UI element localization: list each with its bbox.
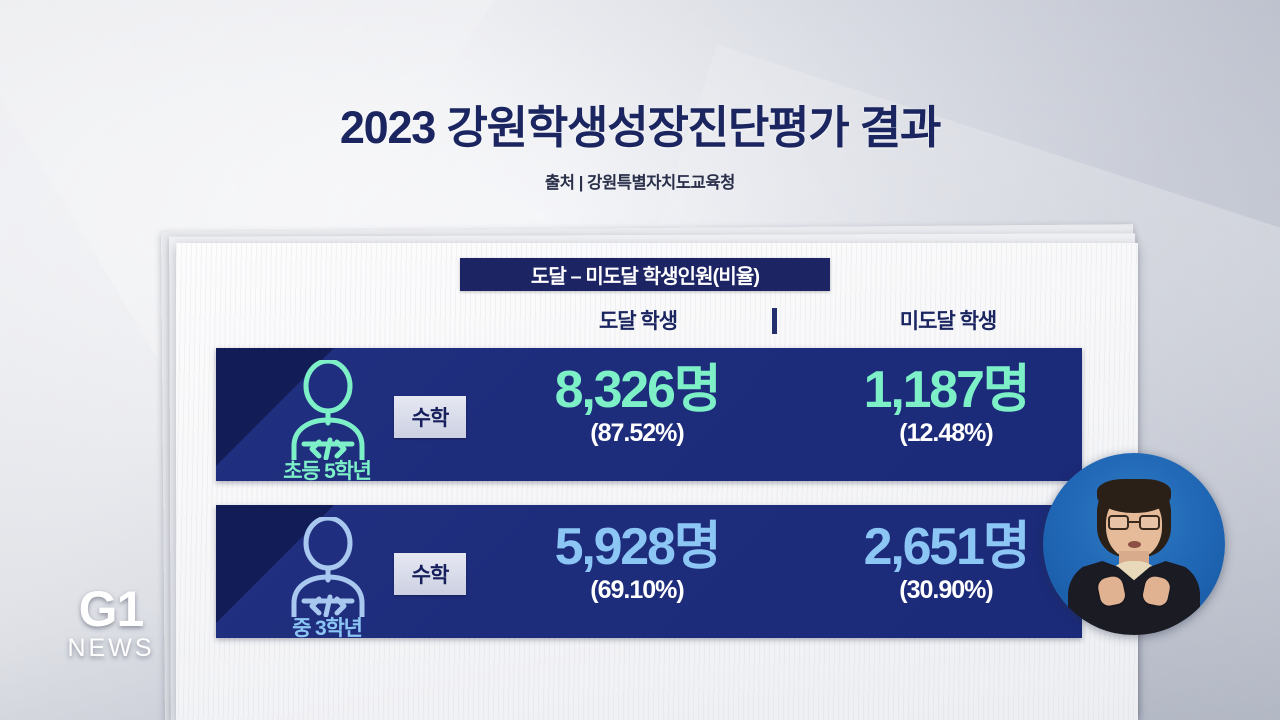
card-banner-label: 도달 – 미도달 학생인원(비율) bbox=[531, 260, 759, 289]
reached-count: 8,326명 bbox=[492, 364, 782, 417]
column-header-reached: 도달 학생 bbox=[548, 305, 728, 335]
student-person-code-icon: 초등 5학년 bbox=[266, 358, 386, 478]
not-reached-percent: (12.48%) bbox=[796, 419, 1082, 448]
card-banner: 도달 – 미도달 학생인원(비율) bbox=[460, 258, 830, 291]
channel-logo-sub: NEWS bbox=[36, 634, 186, 663]
page-title: 2023 강원학생성장진단평가 결과 bbox=[0, 104, 1280, 151]
interpreter-mouth bbox=[1128, 541, 1141, 548]
reached-percent: (87.52%) bbox=[492, 419, 782, 448]
not-reached-count: 2,651명 bbox=[796, 521, 1082, 574]
student-person-code-icon: 중 3학년 bbox=[266, 515, 386, 635]
reached-stat: 8,326명 (87.52%) bbox=[492, 364, 782, 448]
not-reached-count: 1,187명 bbox=[796, 364, 1082, 417]
subject-badge: 수학 bbox=[394, 553, 466, 595]
reached-count: 5,928명 bbox=[492, 521, 782, 574]
row-grade-label: 중 3학년 bbox=[252, 618, 402, 638]
table-row: 초등 5학년 수학 8,326명 (87.52%) 1,187명 (12.48%… bbox=[216, 348, 1082, 481]
subject-badge-label: 수학 bbox=[412, 402, 449, 432]
subject-badge: 수학 bbox=[394, 396, 466, 438]
not-reached-percent: (30.90%) bbox=[796, 576, 1082, 605]
row-grade-label: 초등 5학년 bbox=[252, 461, 402, 481]
column-header-not-reached: 미도달 학생 bbox=[848, 305, 1048, 335]
column-headers: 도달 학생 미도달 학생 bbox=[176, 305, 1138, 341]
column-header-divider bbox=[772, 308, 777, 334]
not-reached-stat: 1,187명 (12.48%) bbox=[796, 364, 1082, 448]
subject-badge-label: 수학 bbox=[412, 559, 449, 589]
headline-block: 2023 강원학생성장진단평가 결과 출처 | 강원특별자치도교육청 bbox=[0, 104, 1280, 193]
source-caption: 출처 | 강원특별자치도교육청 bbox=[0, 169, 1280, 193]
channel-logo: G1 NEWS bbox=[36, 586, 186, 663]
interpreter-fringe bbox=[1097, 479, 1171, 513]
interpreter-glasses-icon bbox=[1108, 515, 1160, 530]
results-card: 도달 – 미도달 학생인원(비율) 도달 학생 미도달 학생 초등 5학년 수학… bbox=[176, 243, 1138, 720]
sign-language-interpreter bbox=[1043, 453, 1225, 635]
reached-stat: 5,928명 (69.10%) bbox=[492, 521, 782, 605]
channel-logo-mark: G1 bbox=[36, 586, 186, 632]
table-row: 중 3학년 수학 5,928명 (69.10%) 2,651명 (30.90%) bbox=[216, 505, 1082, 638]
reached-percent: (69.10%) bbox=[492, 576, 782, 605]
not-reached-stat: 2,651명 (30.90%) bbox=[796, 521, 1082, 605]
